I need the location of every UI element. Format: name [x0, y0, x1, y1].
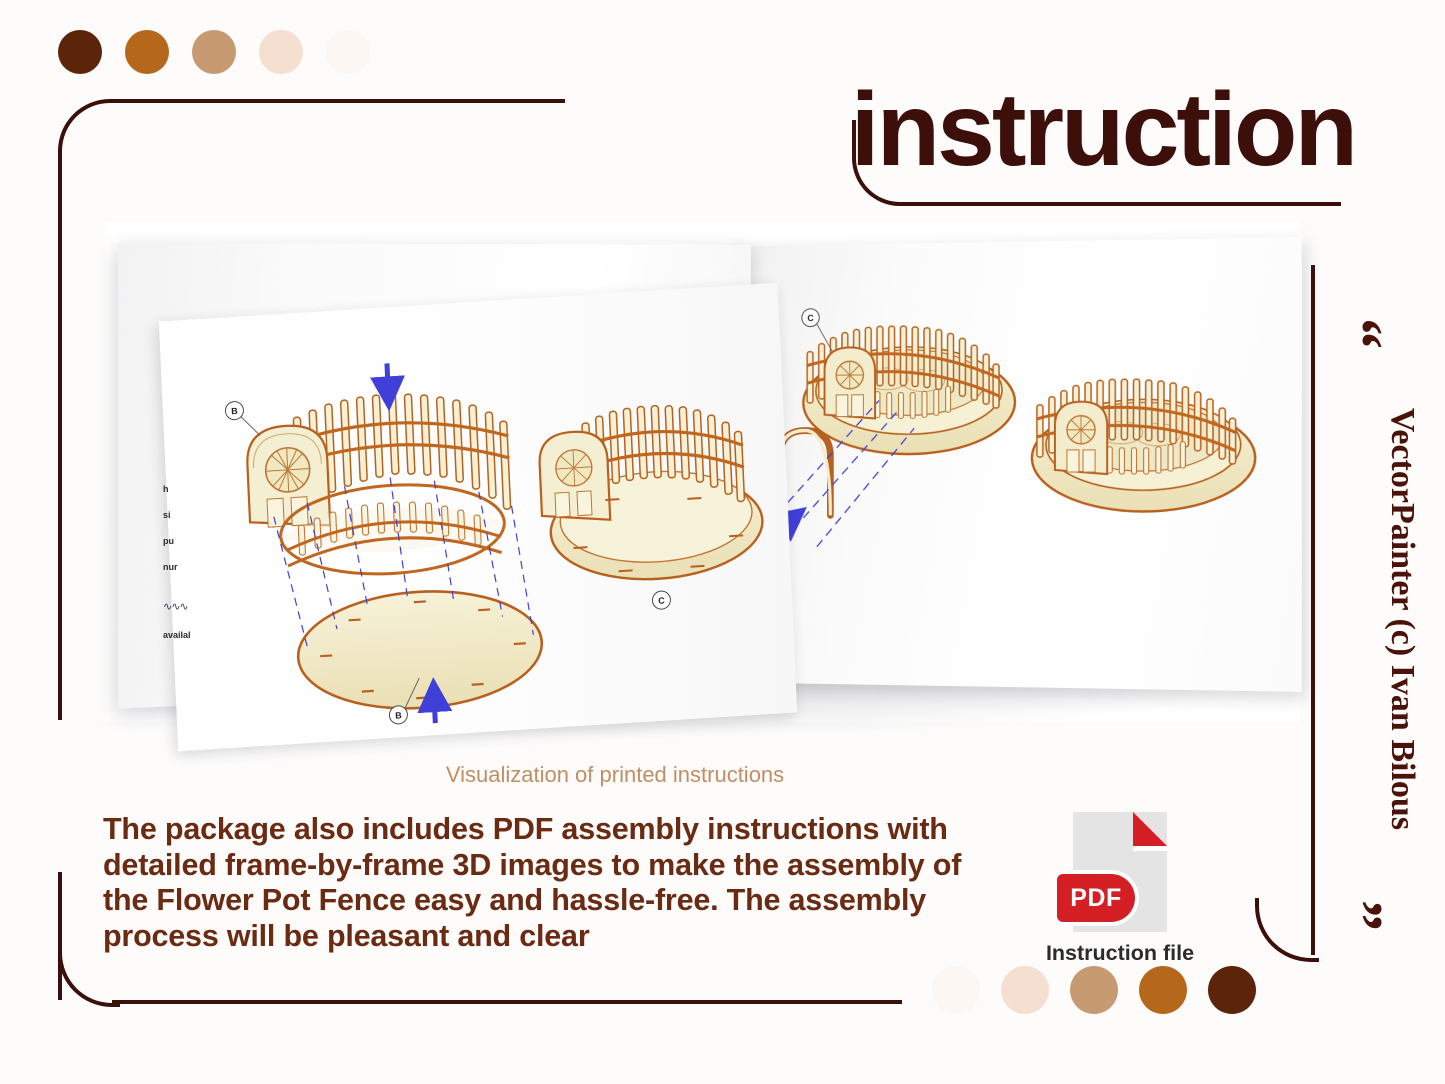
- sheet-fragment-4: nur: [163, 562, 178, 572]
- sheet-fragment-5: availal: [163, 630, 191, 640]
- frame-bottom-rule: [112, 1000, 902, 1004]
- sheet-fragment-1: h: [163, 484, 169, 494]
- diagram-left-exploded: [245, 385, 545, 718]
- frame-left-upper-rule: [58, 150, 62, 720]
- pdf-caption: Instruction file: [1020, 941, 1220, 966]
- left-page-diagrams: [159, 283, 797, 752]
- swatch-cream: [326, 30, 370, 74]
- book-sheet-tilted: B C B: [159, 283, 797, 752]
- swatch-tan: [1070, 966, 1118, 1014]
- swatch-cream: [932, 966, 980, 1014]
- title-underline-rule: [852, 150, 1341, 206]
- pdf-badge: PDF: [1057, 874, 1135, 922]
- swatch-tan: [192, 30, 236, 74]
- visualization-caption: Visualization of printed instructions: [0, 762, 1230, 788]
- pdf-file-block: PDF Instruction file: [1020, 812, 1220, 966]
- pdf-document-icon: PDF: [1073, 812, 1167, 932]
- frame-corner-bottom-right: [1255, 898, 1319, 962]
- frame-right-rule: [1311, 265, 1315, 955]
- palette-top: [58, 30, 370, 74]
- diagram-left-assembled: [537, 399, 764, 586]
- book-page-right: C 5 6: [725, 237, 1302, 692]
- credit-block: VectorPainter (c) Ivan Bilous: [1372, 310, 1432, 950]
- swatch-peach: [1001, 966, 1049, 1014]
- quote-close-glyph: ”: [1341, 900, 1378, 931]
- body-paragraph: The package also includes PDF assembly i…: [103, 812, 968, 955]
- sheet-fragment-2: si: [163, 510, 171, 520]
- zigzag-rule-mid: ∿∿∿: [163, 600, 188, 613]
- pdf-folded-corner-icon: [1133, 812, 1167, 846]
- frame-top-rule: [110, 99, 565, 103]
- pdf-fold-divider: [1133, 846, 1167, 851]
- book-mockup: C 5 6 ∿∿∿∿∿∿∿∿∿∿∿∿: [105, 222, 1300, 722]
- frame-corner-top-left: [58, 99, 118, 159]
- sheet-fragment-3: pu: [163, 536, 174, 546]
- diagram-label-c-right: C: [801, 308, 819, 327]
- diagram-right-2: [1032, 378, 1255, 511]
- swatch-orange-brown: [125, 30, 169, 74]
- palette-bottom: [932, 966, 1256, 1014]
- frame-left-lower-rule: [58, 872, 62, 1000]
- swatch-dark-brown: [1208, 966, 1256, 1014]
- diagram-right-1: [803, 322, 1015, 454]
- swatch-peach: [259, 30, 303, 74]
- swatch-dark-brown: [58, 30, 102, 74]
- right-page-diagrams: [725, 237, 1302, 692]
- credit-text: VectorPainter (c) Ivan Bilous: [1383, 329, 1421, 909]
- swatch-orange-brown: [1139, 966, 1187, 1014]
